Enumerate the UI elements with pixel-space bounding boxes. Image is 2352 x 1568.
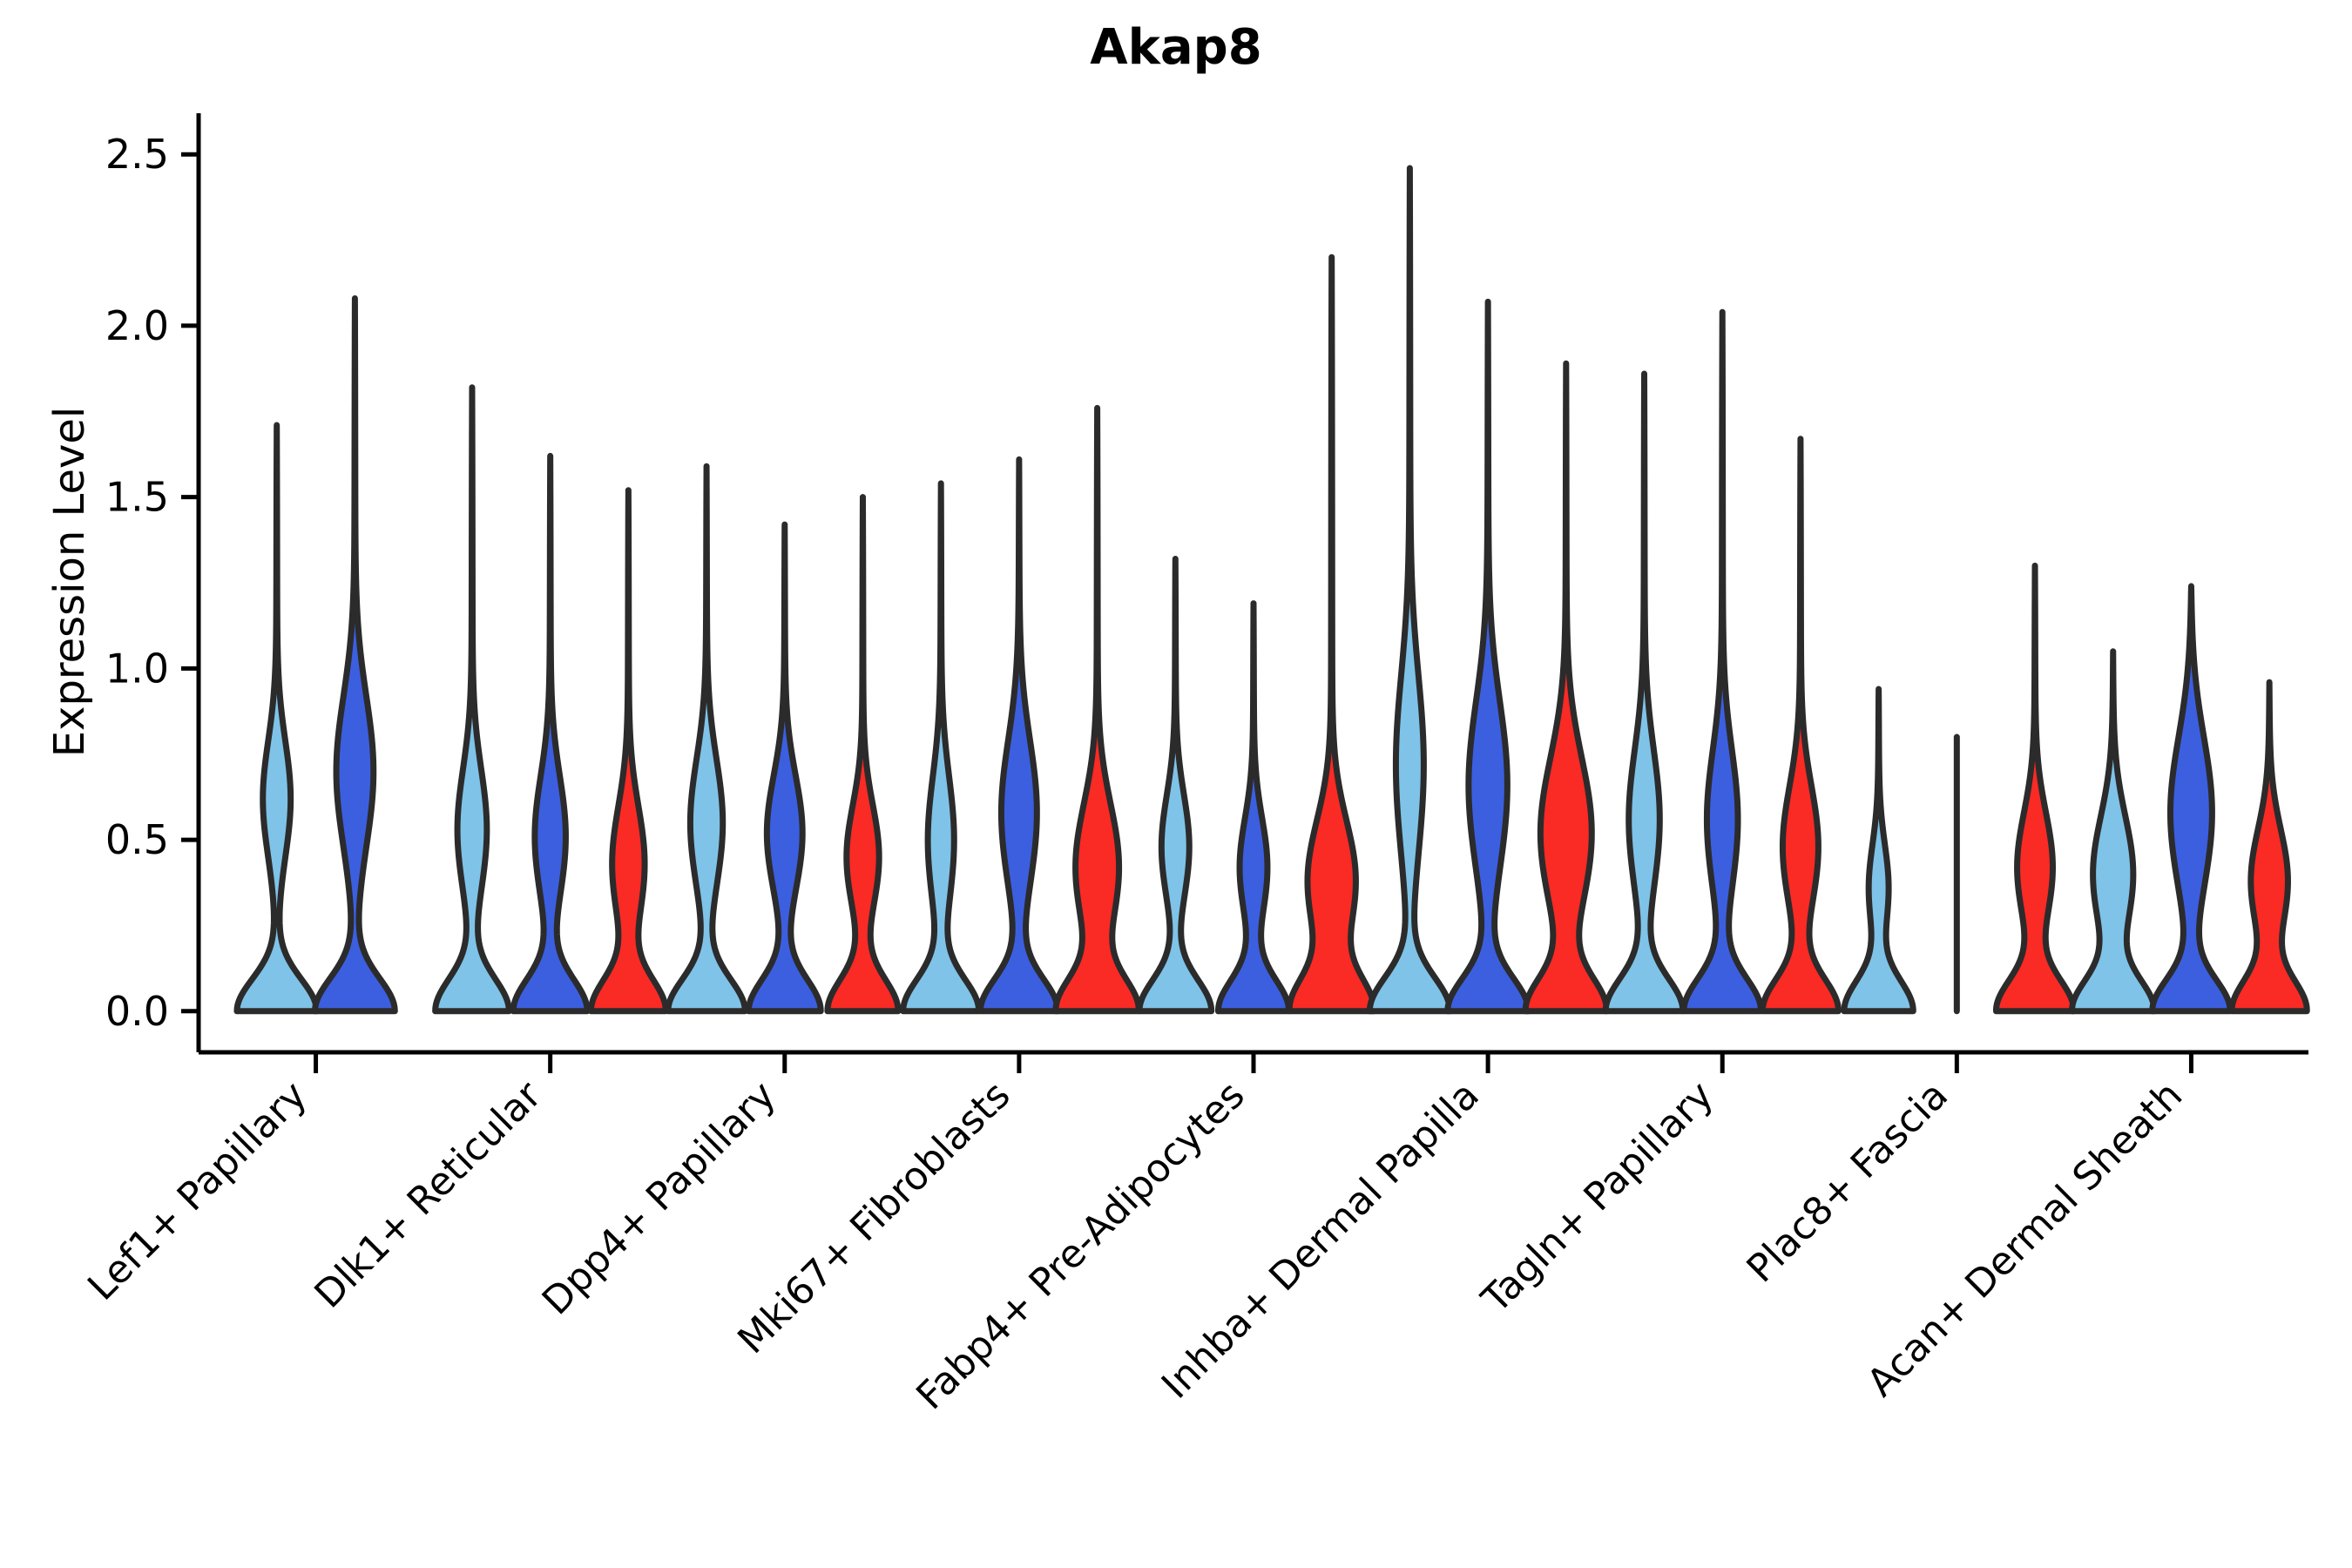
- violin-group-3: [1289, 257, 1374, 1011]
- violin-group-1: [1605, 374, 1683, 1011]
- violin-group-1: [668, 466, 745, 1011]
- y-tick-label: 2.5: [105, 131, 169, 178]
- x-category-label: Lef1+ Papillary: [79, 1073, 315, 1309]
- violin-group-2: [1684, 312, 1761, 1011]
- violin-group-3: [2232, 682, 2307, 1011]
- violin-group-1: [436, 388, 510, 1011]
- violin-group-3: [1056, 408, 1139, 1010]
- violin-group-3: [828, 497, 898, 1011]
- violin-group-3: [1525, 363, 1606, 1011]
- violin-group-1: [1139, 558, 1212, 1010]
- y-tick-labels: 0.00.51.01.52.02.5: [105, 131, 169, 1035]
- violin-group-1: [1844, 689, 1913, 1011]
- y-tick-label: 2.0: [105, 302, 169, 349]
- chart-root: Akap8 Expression Level 0.00.51.01.52.02.…: [0, 0, 2352, 1568]
- y-tick-label: 0.5: [105, 816, 169, 863]
- x-category-label: Dlk1+ Reticular: [306, 1072, 551, 1317]
- violin-group-3: [591, 490, 666, 1011]
- y-tick-label: 1.0: [105, 645, 169, 692]
- x-category-label: Dpp4+ Papillary: [534, 1073, 785, 1324]
- violin-group-2: [1218, 604, 1288, 1011]
- violin-group-2: [513, 456, 587, 1010]
- violin-group-3: [1762, 439, 1838, 1011]
- y-tick-label: 0.0: [105, 988, 169, 1035]
- violin-group-1: [237, 425, 317, 1011]
- x-tick-labels: Lef1+ PapillaryDlk1+ ReticularDpp4+ Papi…: [79, 1072, 2191, 1418]
- x-category-label: Tagln+ Papillary: [1473, 1073, 1722, 1322]
- violins-layer: [237, 168, 2307, 1011]
- violin-group-2: [315, 298, 395, 1010]
- violin-group-3: [1996, 565, 2073, 1010]
- violin-group-1: [903, 483, 979, 1011]
- violin-plot-canvas: 0.00.51.01.52.02.5 Lef1+ PapillaryDlk1+ …: [0, 0, 2352, 1568]
- violin-group-2: [2153, 586, 2230, 1011]
- violin-group-2: [748, 524, 821, 1011]
- violin-group-2: [981, 459, 1058, 1010]
- violin-group-2: [1448, 301, 1529, 1010]
- x-category-label: Plac8+ Fascia: [1739, 1073, 1957, 1292]
- violin-group-1: [1369, 168, 1450, 1011]
- violin-group-1: [2072, 652, 2154, 1011]
- y-tick-label: 1.5: [105, 474, 169, 521]
